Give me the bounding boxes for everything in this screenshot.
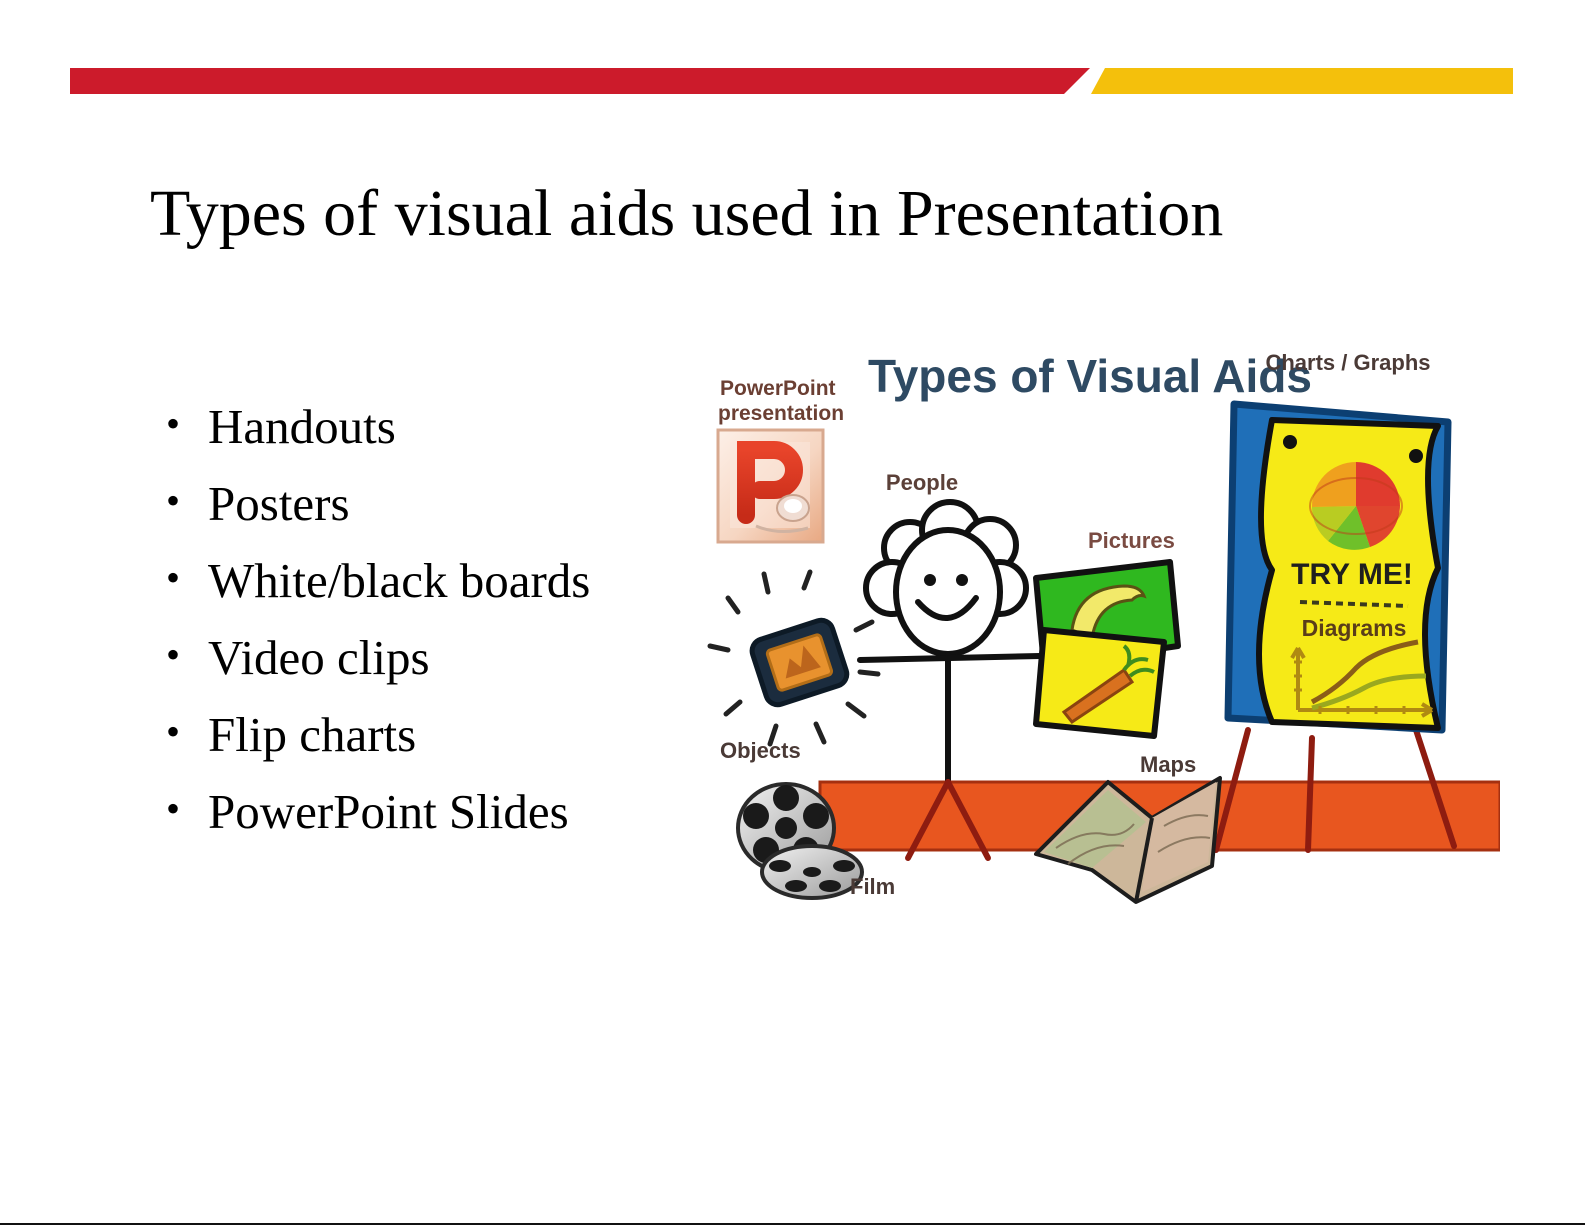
object-device [749, 617, 850, 708]
visual-aids-illustration: Types of Visual Aids PowerPoint presenta… [700, 330, 1500, 910]
list-item: Posters [158, 479, 718, 528]
list-item: PowerPoint Slides [158, 787, 718, 836]
list-item: Flip charts [158, 710, 718, 759]
try-me-text: TRY ME! [1291, 558, 1413, 591]
label-charts-graphs: Charts / Graphs [1265, 350, 1430, 375]
label-people: People [886, 470, 958, 495]
header-bar-red [70, 68, 1090, 94]
page-title: Types of visual aids used in Presentatio… [150, 178, 1480, 251]
slide-footer: ĐẠI HỌC BÁCH KHOA 25 YEARS ANNIVERSARY [0, 1000, 1585, 1110]
presentation-slide: Types of visual aids used in Presentatio… [0, 0, 1585, 1225]
diagrams-text: Diagrams [1302, 615, 1407, 641]
label-pictures: Pictures [1088, 528, 1175, 553]
header-accent-bars [70, 68, 1513, 94]
label-maps: Maps [1140, 752, 1196, 777]
powerpoint-icon: PowerPoint presentation [718, 377, 844, 542]
visual-aids-list: Handouts Posters White/black boards Vide… [158, 402, 718, 864]
label-objects: Objects [720, 738, 801, 763]
header-bar-yellow [1091, 68, 1513, 94]
list-item: Video clips [158, 633, 718, 682]
svg-text:PowerPoint: PowerPoint [720, 377, 836, 400]
svg-text:presentation: presentation [718, 402, 844, 425]
picture-card-carrot [1036, 630, 1164, 736]
list-item: Handouts [158, 402, 718, 451]
illustration-heading-text: Types of Visual Aids [868, 350, 1312, 402]
label-film: Film [850, 874, 895, 899]
list-item: White/black boards [158, 556, 718, 605]
